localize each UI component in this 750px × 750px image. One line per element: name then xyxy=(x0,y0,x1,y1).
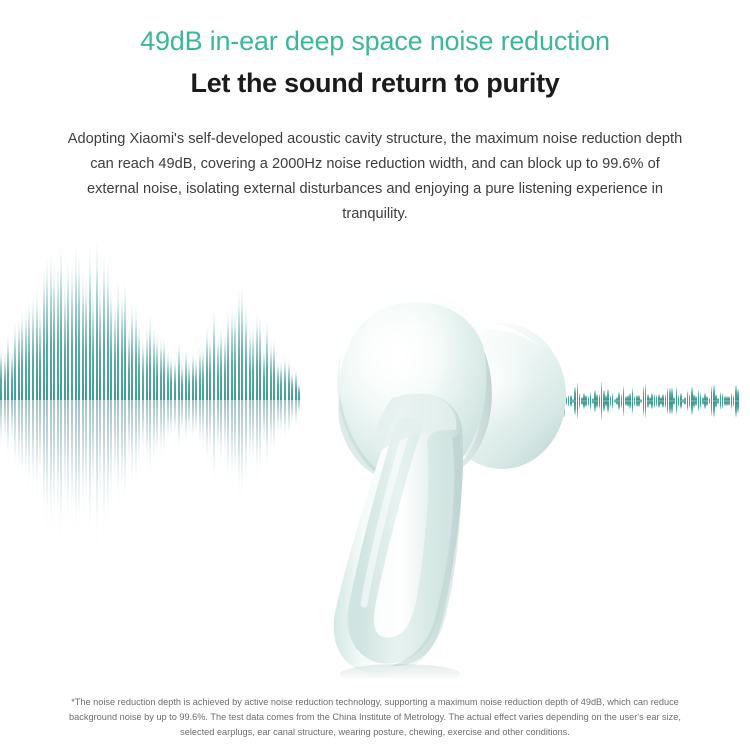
waveform-spike xyxy=(698,390,700,401)
waveform-bar-reflection xyxy=(128,400,130,472)
waveform-spike-mirror xyxy=(596,401,598,408)
waveform-bar xyxy=(241,286,243,400)
waveform-bar-reflection xyxy=(167,400,169,447)
waveform-bar-reflection xyxy=(153,400,155,470)
waveform-spike-mirror xyxy=(607,401,609,413)
waveform-spike-mirror xyxy=(709,401,711,404)
waveform-bar-reflection xyxy=(163,400,165,461)
waveform-spike-mirror xyxy=(610,401,612,407)
waveform-bar-reflection xyxy=(78,400,80,541)
waveform-bar xyxy=(0,348,2,400)
waveform-bar-reflection xyxy=(231,400,233,489)
waveform-spike-mirror xyxy=(621,401,623,408)
waveform-spike-mirror xyxy=(695,401,697,406)
waveform-bar xyxy=(117,281,119,400)
waveform-bar-reflection xyxy=(0,400,2,450)
waveform-bar-reflection xyxy=(252,400,254,471)
waveform-bar xyxy=(192,352,194,400)
waveform-spike xyxy=(651,393,653,401)
waveform-bar-reflection xyxy=(131,400,133,495)
waveform-spike xyxy=(599,394,601,402)
waveform-bar xyxy=(178,342,180,400)
waveform-spike-mirror xyxy=(728,401,730,406)
waveform-bar xyxy=(213,309,215,400)
waveform-bar-reflection xyxy=(259,400,261,480)
waveform-bar xyxy=(160,338,162,400)
waveform-spike xyxy=(629,393,631,401)
waveform-bar xyxy=(245,305,247,400)
waveform-bar xyxy=(50,252,52,400)
waveform-bar xyxy=(256,313,258,400)
waveform-bar-reflection xyxy=(121,400,123,505)
waveform-bar-reflection xyxy=(28,400,30,497)
text-block: 49dB in-ear deep space noise reduction L… xyxy=(0,0,750,227)
waveform-spike xyxy=(596,394,598,401)
waveform-bar-reflection xyxy=(178,400,180,456)
waveform-bar-reflection xyxy=(217,400,219,463)
waveform-spike-mirror xyxy=(720,401,722,410)
waveform-bar-reflection xyxy=(245,400,247,491)
waveform-bar xyxy=(11,349,13,400)
waveform-bar xyxy=(7,334,9,400)
waveform-bar-reflection xyxy=(99,400,101,513)
waveform-bar xyxy=(234,308,236,400)
waveform-bar-reflection xyxy=(188,400,190,438)
waveform-bar xyxy=(32,296,34,400)
waveform-bar-reflection xyxy=(57,400,59,534)
waveform-bar xyxy=(195,357,197,400)
waveform-bar-reflection xyxy=(238,400,240,505)
waveform-bar xyxy=(60,243,62,400)
waveform-bar xyxy=(227,309,229,400)
waveform-spike-mirror xyxy=(662,401,664,408)
waveform-spike-mirror xyxy=(731,401,733,409)
waveform-spike-mirror xyxy=(676,401,678,415)
waveform-spike-mirror xyxy=(687,401,689,411)
waveform-spike xyxy=(720,392,722,401)
waveform-bar xyxy=(25,308,27,400)
waveform-spike xyxy=(665,394,667,401)
waveform-spike-mirror xyxy=(640,401,642,403)
waveform-bar-reflection xyxy=(92,400,94,506)
waveform-bar xyxy=(36,290,38,400)
waveform-bar-reflection xyxy=(181,400,183,437)
waveform-bar-reflection xyxy=(170,400,172,443)
waveform-bar xyxy=(185,349,187,400)
waveform-bar-reflection xyxy=(4,400,6,445)
page-subheadline: Let the sound return to purity xyxy=(0,58,750,100)
waveform-spike xyxy=(643,386,645,401)
waveform-bar xyxy=(107,261,109,400)
waveform-spike-mirror xyxy=(618,401,620,410)
waveform-bar xyxy=(78,253,80,400)
waveform-bar xyxy=(92,290,94,400)
waveform-spike-mirror xyxy=(632,401,634,414)
waveform-bar xyxy=(153,327,155,400)
waveform-bar xyxy=(4,353,6,400)
waveform-bar xyxy=(110,286,112,400)
waveform-bar-reflection xyxy=(213,400,215,488)
waveform-bar-reflection xyxy=(46,400,48,538)
waveform-bar-reflection xyxy=(67,400,69,535)
waveform-bar-reflection xyxy=(85,400,87,519)
waveform-bar xyxy=(57,261,59,400)
waveform-bar-reflection xyxy=(71,400,73,533)
waveform-bar-reflection xyxy=(135,400,137,492)
waveform-bar xyxy=(85,276,87,400)
waveform-bar-reflection xyxy=(142,400,144,458)
waveform-bar-reflection xyxy=(185,400,187,449)
waveform-spike-mirror xyxy=(599,401,601,409)
product-marketing-page: 49dB in-ear deep space noise reduction L… xyxy=(0,0,750,750)
waveform-bar-reflection xyxy=(110,400,112,509)
waveform-bar xyxy=(121,291,123,400)
waveform-bar-reflection xyxy=(64,400,66,514)
waveform-spike xyxy=(687,391,689,401)
waveform-bar-reflection xyxy=(39,400,41,490)
waveform-bar-reflection xyxy=(263,400,265,452)
waveform-bar xyxy=(238,290,240,400)
waveform-spike-mirror xyxy=(717,401,719,404)
waveform-bar xyxy=(252,326,254,400)
waveform-bar xyxy=(163,337,165,400)
waveform-bar xyxy=(75,247,77,400)
waveform-bar-reflection xyxy=(114,400,116,494)
waveform-bar xyxy=(174,358,176,400)
waveform-bar-reflection xyxy=(195,400,197,441)
waveform-bar xyxy=(273,339,275,400)
waveform-bar xyxy=(188,361,190,400)
waveform-spike xyxy=(607,389,609,401)
body-paragraph: Adopting Xiaomi's self-developed acousti… xyxy=(67,100,683,227)
waveform-bar-reflection xyxy=(160,400,162,460)
waveform-bar-reflection xyxy=(75,400,77,547)
waveform-bar-reflection xyxy=(117,400,119,514)
waveform-spike xyxy=(676,387,678,401)
waveform-bar-reflection xyxy=(206,400,208,471)
waveform-bar-reflection xyxy=(277,400,279,439)
waveform-bar xyxy=(39,306,41,400)
waveform-bar xyxy=(103,254,105,400)
waveform-bar-reflection xyxy=(14,400,16,474)
waveform-spike-mirror xyxy=(698,401,700,412)
waveform-bar xyxy=(124,282,126,400)
waveform-bar-reflection xyxy=(273,400,275,458)
waveform-spike-mirror xyxy=(665,401,667,408)
waveform-bar xyxy=(114,302,116,400)
waveform-bar xyxy=(156,334,158,400)
waveform-bar xyxy=(138,324,140,400)
waveform-bar-reflection xyxy=(202,400,204,451)
waveform-bar-reflection xyxy=(156,400,158,463)
waveform-bar xyxy=(53,263,55,400)
waveform-spike-mirror xyxy=(651,401,653,409)
waveform-bar-reflection xyxy=(25,400,27,488)
waveform-bar xyxy=(263,346,265,400)
waveform-bar-reflection xyxy=(209,400,211,463)
waveform-bar-reflection xyxy=(124,400,126,513)
waveform-bar xyxy=(231,307,233,400)
waveform-bar-reflection xyxy=(43,400,45,528)
waveform-bar xyxy=(99,283,101,400)
footnote-disclaimer: *The noise reduction depth is achieved b… xyxy=(55,695,695,740)
waveform-bar-reflection xyxy=(89,400,91,547)
waveform-bar xyxy=(131,301,133,400)
wireless-earbud-image xyxy=(280,278,590,678)
waveform-bar-reflection xyxy=(149,400,151,482)
waveform-spike-mirror xyxy=(706,401,708,406)
waveform-bar-reflection xyxy=(192,400,194,446)
waveform-spike xyxy=(618,392,620,401)
waveform-spike xyxy=(654,394,656,401)
waveform-bar xyxy=(259,316,261,400)
waveform-bar-reflection xyxy=(60,400,62,551)
waveform-spike-mirror xyxy=(643,401,645,416)
waveform-bar xyxy=(128,325,130,400)
waveform-bar-reflection xyxy=(36,400,38,506)
waveform-bar xyxy=(266,321,268,400)
waveform-bar-reflection xyxy=(234,400,236,488)
waveform-bar xyxy=(249,327,251,400)
waveform-spike-mirror xyxy=(737,401,739,413)
waveform-bar xyxy=(46,256,48,400)
waveform-spike xyxy=(632,388,634,401)
waveform-bar-reflection xyxy=(220,400,222,472)
waveform-bar xyxy=(64,281,66,400)
waveform-bar xyxy=(277,360,279,400)
waveform-bar-reflection xyxy=(199,400,201,451)
waveform-bar xyxy=(146,327,148,400)
waveform-bar xyxy=(67,259,69,400)
waveform-bar xyxy=(142,339,144,400)
waveform-bar xyxy=(181,362,183,400)
page-headline: 49dB in-ear deep space noise reduction xyxy=(0,0,750,58)
waveform-bar xyxy=(202,347,204,400)
waveform-bar-reflection xyxy=(266,400,268,476)
waveform-bar xyxy=(96,242,98,400)
waveform-bar-reflection xyxy=(107,400,109,533)
waveform-bar-reflection xyxy=(53,400,55,532)
waveform-bar-reflection xyxy=(50,400,52,542)
waveform-bar-reflection xyxy=(96,400,98,552)
waveform-bar-reflection xyxy=(249,400,251,470)
waveform-bar-reflection xyxy=(227,400,229,487)
waveform-bar-reflection xyxy=(21,400,23,487)
waveform-bar-reflection xyxy=(103,400,105,541)
waveform-bar-reflection xyxy=(174,400,176,440)
waveform-bar-reflection xyxy=(138,400,140,473)
waveform-bar-reflection xyxy=(32,400,34,500)
waveform-bar xyxy=(21,310,23,400)
waveform-bar xyxy=(28,299,30,400)
waveform-bar xyxy=(220,325,222,400)
waveform-bar xyxy=(89,247,91,400)
waveform-bar xyxy=(135,305,137,400)
waveform-spike-mirror xyxy=(629,401,631,409)
waveform-spike xyxy=(662,394,664,401)
waveform-bar xyxy=(206,326,208,400)
waveform-bar-reflection xyxy=(18,400,20,479)
waveform-bar xyxy=(18,318,20,400)
waveform-bar-reflection xyxy=(146,400,148,470)
waveform-bar xyxy=(14,323,16,400)
waveform-spike-mirror xyxy=(654,401,656,408)
waveform-bar-reflection xyxy=(224,400,226,465)
waveform-bar-reflection xyxy=(241,400,243,509)
waveform-bar xyxy=(199,347,201,400)
waveform-spike xyxy=(737,389,739,401)
waveform-spike-mirror xyxy=(673,401,675,405)
waveform-bar xyxy=(167,351,169,400)
waveform-bar xyxy=(217,335,219,400)
waveform-bar xyxy=(149,315,151,400)
waveform-bar xyxy=(170,355,172,400)
waveform-bar xyxy=(82,271,84,400)
waveform-bar-reflection xyxy=(270,400,272,457)
waveform-bar-reflection xyxy=(82,400,84,524)
waveform-bar xyxy=(224,332,226,400)
waveform-bar xyxy=(71,262,73,400)
waveform-bar-reflection xyxy=(11,400,13,449)
waveform-bar xyxy=(43,267,45,400)
waveform-spike xyxy=(731,393,733,401)
waveform-spike-mirror xyxy=(684,401,686,405)
waveform-bar-reflection xyxy=(256,400,258,484)
waveform-bar xyxy=(209,334,211,400)
waveform-bar-reflection xyxy=(7,400,9,463)
waveform-bar xyxy=(270,341,272,400)
waveform-spike xyxy=(621,394,623,401)
